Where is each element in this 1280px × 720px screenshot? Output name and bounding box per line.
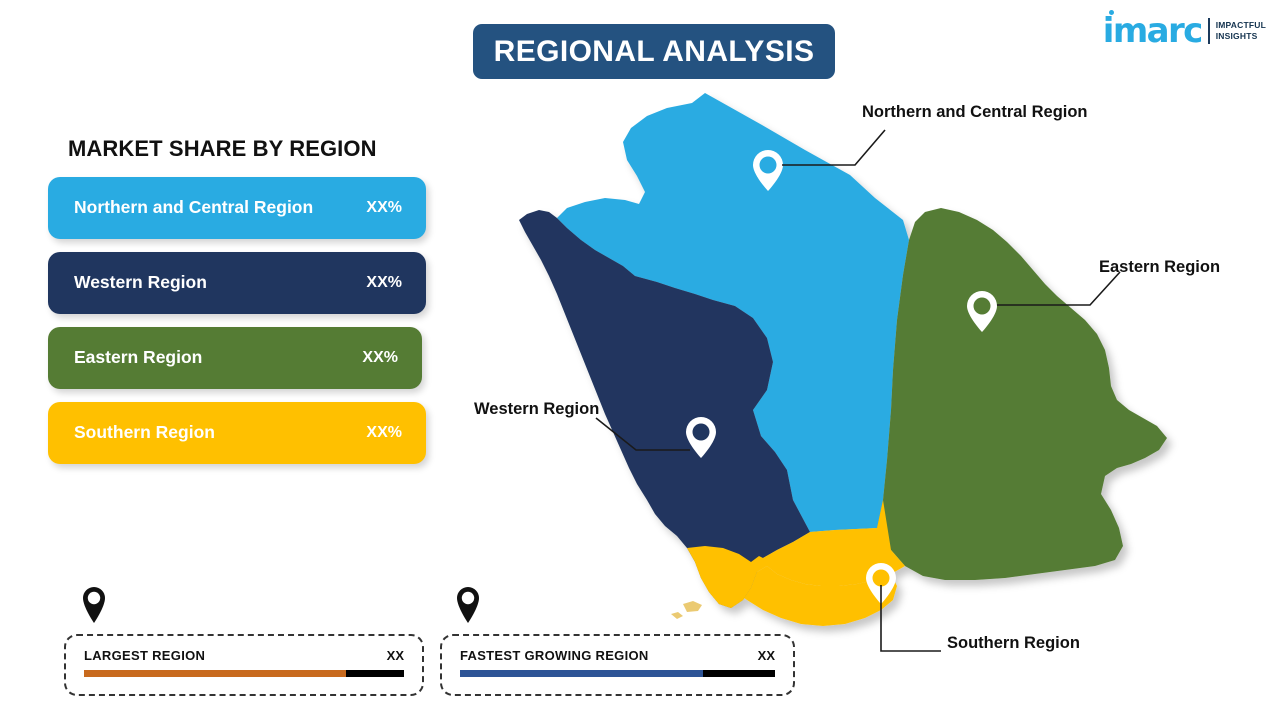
logo-dot-icon: [1109, 10, 1114, 15]
fastest-growing-region-progress-fill: [460, 670, 703, 677]
logo-divider: [1208, 18, 1210, 44]
page-title: REGIONAL ANALYSIS: [494, 35, 815, 69]
fastest-growing-region-pin-icon: [454, 586, 482, 624]
fastest-growing-region-card: FASTEST GROWING REGION XX: [440, 634, 795, 696]
page-title-banner: REGIONAL ANALYSIS: [473, 24, 835, 79]
logo-wordmark: imarc: [1103, 14, 1202, 48]
legend-item-label: Eastern Region: [74, 347, 202, 369]
legend-item-label: Northern and Central Region: [74, 197, 313, 219]
map-islets: [671, 601, 702, 619]
legend-item-northern-and-central[interactable]: Northern and Central Region XX%: [48, 177, 426, 239]
largest-region-label: LARGEST REGION: [84, 648, 205, 663]
fastest-growing-region-label: FASTEST GROWING REGION: [460, 648, 649, 663]
largest-region-pin-icon: [80, 586, 108, 624]
legend-item-western[interactable]: Western Region XX%: [48, 252, 426, 314]
saudi-arabia-region-map: [505, 80, 1225, 650]
legend-item-label: Southern Region: [74, 422, 215, 444]
legend-item-value: XX%: [366, 199, 402, 217]
largest-region-card: LARGEST REGION XX: [64, 634, 424, 696]
logo-wordmark-text: imarc: [1103, 11, 1202, 51]
largest-region-progress-track: [84, 670, 404, 677]
legend-item-eastern[interactable]: Eastern Region XX%: [48, 327, 422, 389]
map-label-northern-and-central: Northern and Central Region: [862, 103, 1088, 122]
legend-item-value: XX%: [362, 349, 398, 367]
legend-item-value: XX%: [366, 274, 402, 292]
map-label-southern: Southern Region: [947, 634, 1080, 653]
imarc-logo: imarc IMPACTFUL INSIGHTS: [1103, 14, 1266, 48]
market-share-legend: MARKET SHARE BY REGION Northern and Cent…: [48, 136, 433, 477]
map-label-western: Western Region: [474, 400, 599, 419]
fastest-growing-region-progress-track: [460, 670, 775, 677]
map-label-eastern: Eastern Region: [1099, 258, 1220, 277]
logo-tagline: IMPACTFUL INSIGHTS: [1216, 20, 1266, 41]
logo-tagline-line1: IMPACTFUL: [1216, 20, 1266, 31]
legend-item-value: XX%: [366, 424, 402, 442]
fastest-growing-region-value: XX: [758, 648, 775, 663]
legend-item-southern[interactable]: Southern Region XX%: [48, 402, 426, 464]
legend-item-label: Western Region: [74, 272, 207, 294]
legend-title: MARKET SHARE BY REGION: [68, 136, 433, 162]
logo-tagline-line2: INSIGHTS: [1216, 31, 1266, 42]
largest-region-value: XX: [387, 648, 404, 663]
largest-region-progress-fill: [84, 670, 346, 677]
